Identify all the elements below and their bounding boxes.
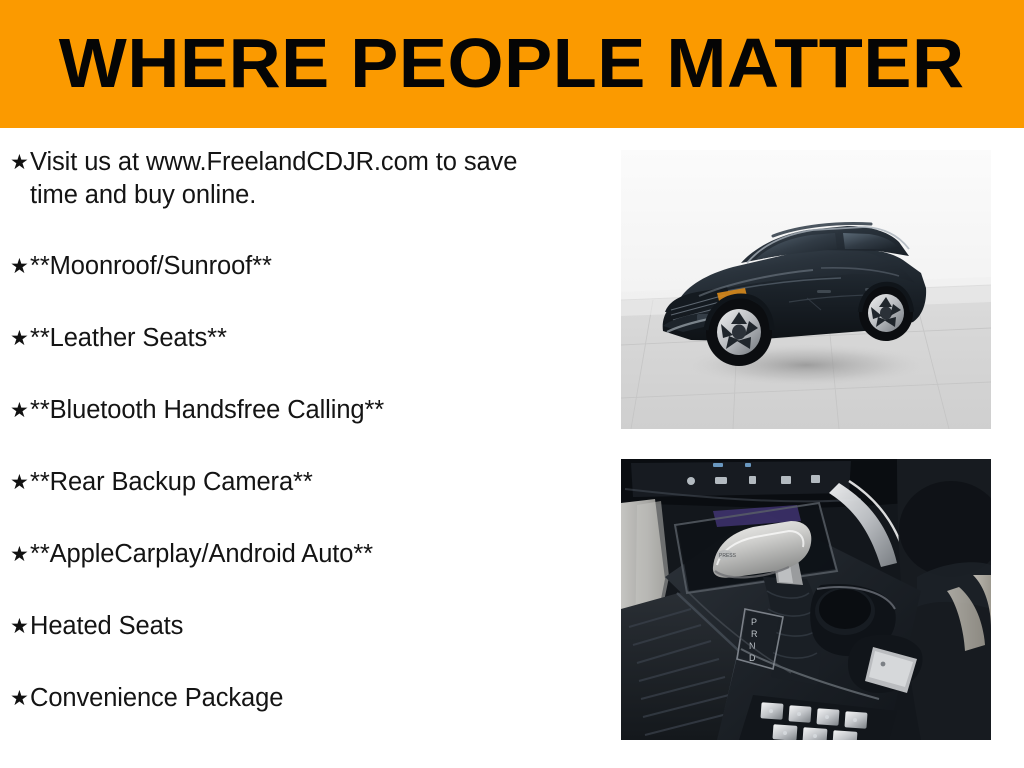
list-item-label: Visit us at www.FreelandCDJR.com to save…: [30, 146, 600, 212]
list-item-label: Heated Seats: [30, 610, 600, 643]
svg-text:PRESS: PRESS: [719, 553, 737, 559]
star-icon: ★: [0, 538, 30, 571]
list-item-label: **Leather Seats**: [30, 322, 600, 355]
list-item: ★ Visit us at www.FreelandCDJR.com to sa…: [0, 146, 600, 212]
list-item: ★ **Bluetooth Handsfree Calling**: [0, 394, 600, 427]
vehicle-interior-photo: PRESS P R N D: [621, 459, 991, 740]
vehicle-exterior-photo: [621, 150, 991, 429]
list-item: ★ **Rear Backup Camera**: [0, 466, 600, 499]
star-icon: ★: [0, 394, 30, 427]
list-item: ★ **Moonroof/Sunroof**: [0, 250, 600, 283]
star-icon: ★: [0, 250, 30, 283]
list-item-label: **Rear Backup Camera**: [30, 466, 600, 499]
list-item: ★ Heated Seats: [0, 610, 600, 643]
star-icon: ★: [0, 146, 30, 179]
interior-photo-artwork: PRESS P R N D: [621, 459, 991, 740]
list-item-label: Convenience Package: [30, 682, 600, 715]
list-item-label: **AppleCarplay/Android Auto**: [30, 538, 600, 571]
page-title: WHERE PEOPLE MATTER: [59, 28, 965, 100]
list-item: ★ Convenience Package: [0, 682, 600, 715]
list-item-label: **Moonroof/Sunroof**: [30, 250, 600, 283]
header-banner: WHERE PEOPLE MATTER: [0, 0, 1024, 128]
exterior-photo-artwork: [621, 150, 991, 429]
star-icon: ★: [0, 322, 30, 355]
star-icon: ★: [0, 682, 30, 715]
list-item: ★ **Leather Seats**: [0, 322, 600, 355]
vehicle-features-list: ★ Visit us at www.FreelandCDJR.com to sa…: [0, 128, 600, 754]
svg-text:P: P: [751, 617, 757, 627]
list-item: ★ **AppleCarplay/Android Auto**: [0, 538, 600, 571]
svg-text:R: R: [751, 629, 758, 639]
star-icon: ★: [0, 466, 30, 499]
list-item-label: **Bluetooth Handsfree Calling**: [30, 394, 600, 427]
star-icon: ★: [0, 610, 30, 643]
slide-content: ★ Visit us at www.FreelandCDJR.com to sa…: [0, 128, 1024, 768]
